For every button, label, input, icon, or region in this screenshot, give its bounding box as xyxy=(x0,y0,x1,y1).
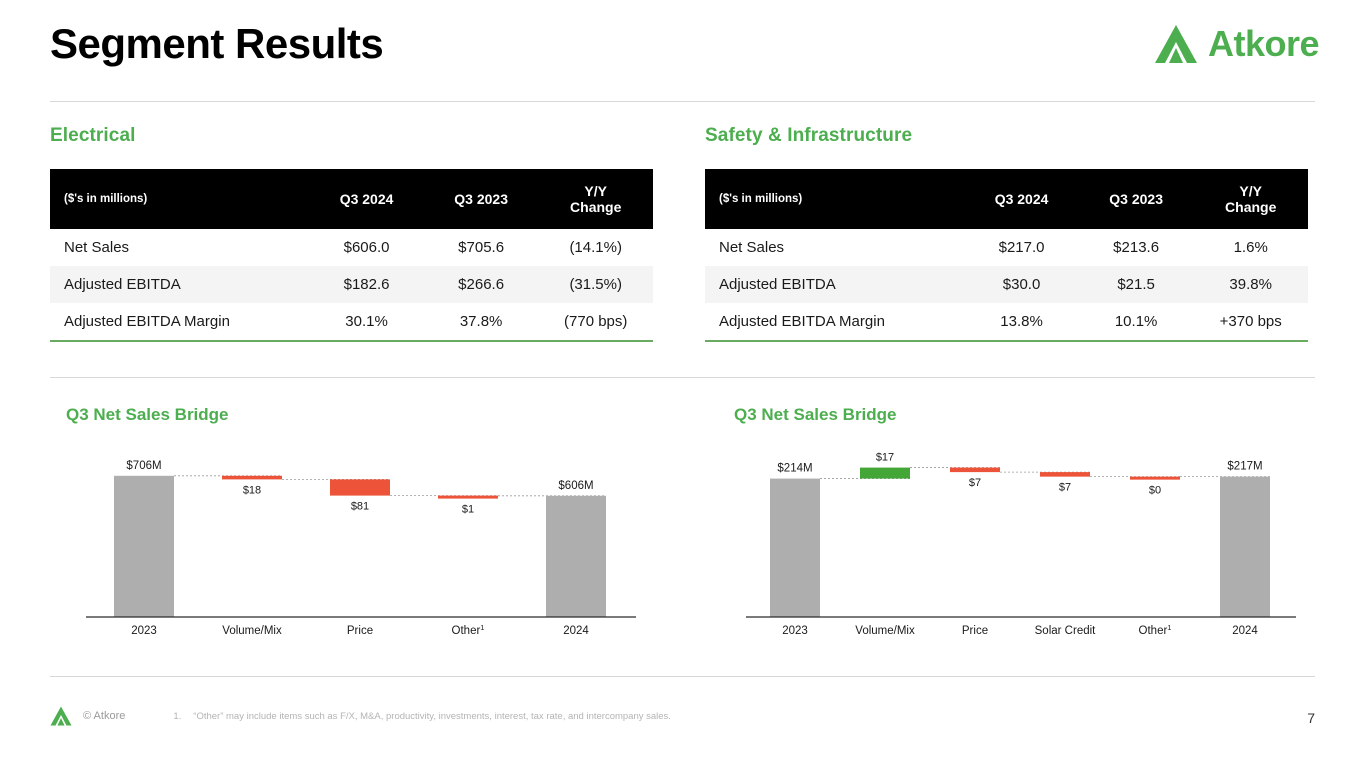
row-label: Net Sales xyxy=(705,229,964,266)
bar-solarcredit xyxy=(1040,472,1090,477)
cell-q3-2023: 10.1% xyxy=(1079,303,1194,340)
svg-text:$217M: $217M xyxy=(1227,461,1262,473)
cell-q3-2024: $182.6 xyxy=(309,266,424,303)
table-row: Adjusted EBITDA Margin 30.1% 37.8% (770 … xyxy=(50,303,653,340)
waterfall-chart-safety: $214M$17$7$7$0$217M2023Volume/MixPriceSo… xyxy=(740,440,1300,640)
svg-text:2023: 2023 xyxy=(131,625,157,637)
svg-text:$214M: $214M xyxy=(777,463,812,475)
bar-other xyxy=(1130,477,1180,480)
col-header-q3-2024: Q3 2024 xyxy=(309,169,424,229)
row-label: Adjusted EBITDA xyxy=(50,266,309,303)
bar-price xyxy=(330,479,390,495)
svg-text:Other1: Other1 xyxy=(1139,623,1172,638)
svg-text:$81: $81 xyxy=(351,501,369,513)
svg-text:$606M: $606M xyxy=(558,480,593,492)
atkore-triangle-icon xyxy=(50,706,72,726)
section-title-electrical: Electrical xyxy=(50,125,660,147)
page-number: 7 xyxy=(1307,710,1315,726)
svg-text:2024: 2024 xyxy=(563,625,589,637)
col-header-yy-line2: Change xyxy=(570,199,621,215)
svg-text:$1: $1 xyxy=(462,504,474,516)
bar-volumemix xyxy=(860,468,910,479)
svg-text:$18: $18 xyxy=(243,484,261,496)
col-header-yy-change: Y/Y Change xyxy=(538,169,653,229)
cell-yy-change: (14.1%) xyxy=(538,229,653,266)
svg-text:$17: $17 xyxy=(876,452,894,464)
bar-2024 xyxy=(546,496,606,617)
col-header-units: ($'s in millions) xyxy=(50,169,309,229)
footnote-number: 1. xyxy=(173,711,181,722)
table-header-row: ($'s in millions) Q3 2024 Q3 2023 Y/Y Ch… xyxy=(705,169,1308,229)
footer-copyright: © Atkore xyxy=(83,710,125,722)
row-label: Adjusted EBITDA Margin xyxy=(50,303,309,340)
panel-electrical: Electrical ($'s in millions) Q3 2024 Q3 … xyxy=(50,125,660,342)
col-header-yy-change: Y/Y Change xyxy=(1193,169,1308,229)
col-header-q3-2024: Q3 2024 xyxy=(964,169,1079,229)
svg-text:Price: Price xyxy=(347,625,373,637)
waterfall-chart-electrical: $706M$18$81$1$606M2023Volume/MixPriceOth… xyxy=(80,440,640,640)
bar-2023 xyxy=(770,479,820,617)
bar-volumemix xyxy=(222,476,282,480)
table-underline xyxy=(705,340,1308,342)
svg-text:$0: $0 xyxy=(1149,485,1161,497)
chart-title-electrical: Q3 Net Sales Bridge xyxy=(66,405,229,425)
footnote-text: “Other” may include items such as F/X, M… xyxy=(193,711,671,722)
divider-bottom xyxy=(50,676,1315,677)
atkore-logo: Atkore xyxy=(1154,24,1319,64)
col-header-units: ($'s in millions) xyxy=(705,169,964,229)
col-header-yy-line2: Change xyxy=(1225,199,1276,215)
cell-q3-2024: $606.0 xyxy=(309,229,424,266)
page-title: Segment Results xyxy=(50,20,383,68)
col-header-yy-line1: Y/Y xyxy=(584,183,607,199)
cell-q3-2024: $30.0 xyxy=(964,266,1079,303)
table-electrical: ($'s in millions) Q3 2024 Q3 2023 Y/Y Ch… xyxy=(50,169,653,340)
table-underline xyxy=(50,340,653,342)
col-header-q3-2023: Q3 2023 xyxy=(1079,169,1194,229)
cell-yy-change: 1.6% xyxy=(1193,229,1308,266)
table-header-row: ($'s in millions) Q3 2024 Q3 2023 Y/Y Ch… xyxy=(50,169,653,229)
bar-other xyxy=(438,496,498,499)
col-header-yy-line1: Y/Y xyxy=(1239,183,1262,199)
row-label: Adjusted EBITDA Margin xyxy=(705,303,964,340)
cell-yy-change: 39.8% xyxy=(1193,266,1308,303)
table-row: Net Sales $606.0 $705.6 (14.1%) xyxy=(50,229,653,266)
slide-root: Segment Results Atkore Electrical ($'s i… xyxy=(0,0,1365,768)
row-label: Net Sales xyxy=(50,229,309,266)
cell-q3-2023: 37.8% xyxy=(424,303,539,340)
bar-2023 xyxy=(114,476,174,617)
divider-top xyxy=(50,101,1315,102)
table-row: Adjusted EBITDA $30.0 $21.5 39.8% xyxy=(705,266,1308,303)
svg-text:$706M: $706M xyxy=(126,460,161,472)
bar-price xyxy=(950,468,1000,473)
bar-2024 xyxy=(1220,477,1270,617)
cell-q3-2023: $705.6 xyxy=(424,229,539,266)
svg-text:Other1: Other1 xyxy=(452,623,485,638)
cell-q3-2024: 13.8% xyxy=(964,303,1079,340)
row-label: Adjusted EBITDA xyxy=(705,266,964,303)
svg-text:2023: 2023 xyxy=(782,625,808,637)
chart-title-safety: Q3 Net Sales Bridge xyxy=(734,405,897,425)
cell-q3-2023: $213.6 xyxy=(1079,229,1194,266)
cell-yy-change: (31.5%) xyxy=(538,266,653,303)
panel-safety-infrastructure: Safety & Infrastructure ($'s in millions… xyxy=(705,125,1315,342)
cell-yy-change: +370 bps xyxy=(1193,303,1308,340)
footer: © Atkore 1. “Other” may include items su… xyxy=(50,706,671,726)
cell-yy-change: (770 bps) xyxy=(538,303,653,340)
cell-q3-2023: $266.6 xyxy=(424,266,539,303)
section-title-safety-infrastructure: Safety & Infrastructure xyxy=(705,125,1315,147)
cell-q3-2023: $21.5 xyxy=(1079,266,1194,303)
atkore-wordmark: Atkore xyxy=(1208,26,1319,62)
col-header-q3-2023: Q3 2023 xyxy=(424,169,539,229)
atkore-triangle-icon xyxy=(1154,24,1198,64)
svg-text:Volume/Mix: Volume/Mix xyxy=(855,625,915,637)
table-row: Adjusted EBITDA $182.6 $266.6 (31.5%) xyxy=(50,266,653,303)
svg-text:Price: Price xyxy=(962,625,988,637)
table-row: Net Sales $217.0 $213.6 1.6% xyxy=(705,229,1308,266)
svg-text:2024: 2024 xyxy=(1232,625,1258,637)
divider-middle xyxy=(50,377,1315,378)
cell-q3-2024: 30.1% xyxy=(309,303,424,340)
svg-text:$7: $7 xyxy=(1059,482,1071,494)
table-row: Adjusted EBITDA Margin 13.8% 10.1% +370 … xyxy=(705,303,1308,340)
table-safety-infrastructure: ($'s in millions) Q3 2024 Q3 2023 Y/Y Ch… xyxy=(705,169,1308,340)
cell-q3-2024: $217.0 xyxy=(964,229,1079,266)
svg-text:Volume/Mix: Volume/Mix xyxy=(222,625,282,637)
svg-text:$7: $7 xyxy=(969,477,981,489)
svg-text:Solar Credit: Solar Credit xyxy=(1035,625,1097,637)
